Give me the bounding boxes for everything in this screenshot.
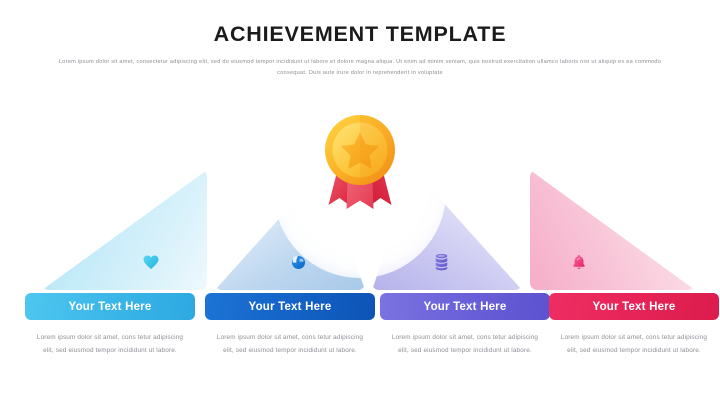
page-subtitle: Lorem ipsum dolor sit amet, consectetur … <box>50 57 670 79</box>
header: ACHIEVEMENT TEMPLATE Lorem ipsum dolor s… <box>0 0 720 79</box>
content-column-4: Your Text Here Lorem ipsum dolor sit ame… <box>549 293 719 357</box>
column-2-button[interactable]: Your Text Here <box>205 293 375 320</box>
award-medal-icon <box>318 108 402 216</box>
wedge-4-shape <box>530 170 695 290</box>
page-title: ACHIEVEMENT TEMPLATE <box>0 22 720 47</box>
column-3-body: Lorem ipsum dolor sit amet, cons tetur a… <box>380 331 550 357</box>
pyramid-diagram <box>0 100 720 290</box>
column-1-body: Lorem ipsum dolor sit amet, cons tetur a… <box>25 331 195 357</box>
column-4-body: Lorem ipsum dolor sit amet, cons tetur a… <box>549 331 719 357</box>
content-column-3: Your Text Here Lorem ipsum dolor sit ame… <box>380 293 550 357</box>
wedge-1-shape <box>42 170 207 290</box>
bell-icon <box>568 251 590 273</box>
pyramid-wedge-4[interactable] <box>530 170 695 290</box>
column-1-button[interactable]: Your Text Here <box>25 293 195 320</box>
pyramid-wedge-1[interactable] <box>42 170 207 290</box>
database-icon <box>430 251 452 273</box>
column-3-button[interactable]: Your Text Here <box>380 293 550 320</box>
column-4-button[interactable]: Your Text Here <box>549 293 719 320</box>
content-column-2: Your Text Here Lorem ipsum dolor sit ame… <box>205 293 375 357</box>
heart-icon <box>140 251 162 273</box>
content-column-1: Your Text Here Lorem ipsum dolor sit ame… <box>25 293 195 357</box>
column-2-body: Lorem ipsum dolor sit amet, cons tetur a… <box>205 331 375 357</box>
